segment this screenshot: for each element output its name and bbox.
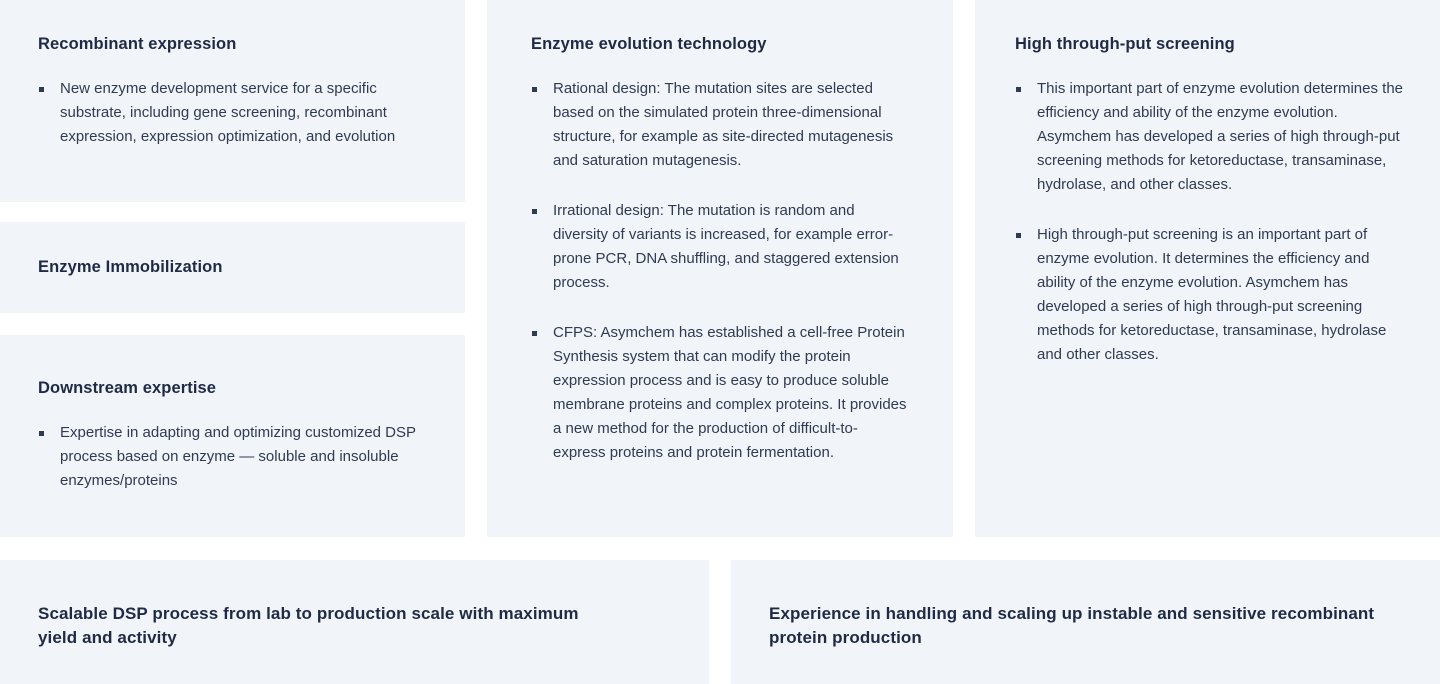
- list-item: CFPS: Asymchem has established a cell-fr…: [531, 321, 909, 465]
- card-title: Enzyme Immobilization: [38, 257, 223, 278]
- square-bullet-icon: [1016, 87, 1021, 92]
- square-bullet-icon: [532, 87, 537, 92]
- square-bullet-icon: [39, 87, 44, 92]
- bullet-list: New enzyme development service for a spe…: [38, 77, 425, 149]
- card-content: High through-put screening This importan…: [975, 0, 1440, 367]
- card-enzyme-immobilization: Enzyme Immobilization: [0, 222, 465, 313]
- banner-title: Scalable DSP process from lab to product…: [38, 602, 589, 650]
- banner-title: Experience in handling and scaling up in…: [769, 602, 1380, 650]
- list-item: This important part of enzyme evolution …: [1015, 77, 1406, 197]
- square-bullet-icon: [1016, 233, 1021, 238]
- square-bullet-icon: [39, 431, 44, 436]
- list-item-text: This important part of enzyme evolution …: [1037, 80, 1403, 193]
- card-recombinant-expression: Recombinant expression New enzyme develo…: [0, 0, 465, 202]
- list-item: High through-put screening is an importa…: [1015, 223, 1406, 367]
- list-item: New enzyme development service for a spe…: [38, 77, 425, 149]
- enzyme-capabilities-board: Recombinant expression New enzyme develo…: [0, 0, 1440, 684]
- card-title: High through-put screening: [1015, 34, 1406, 55]
- banner-content: Scalable DSP process from lab to product…: [0, 560, 709, 650]
- list-item-text: CFPS: Asymchem has established a cell-fr…: [553, 324, 907, 461]
- bullet-list: Expertise in adapting and optimizing cus…: [38, 421, 425, 493]
- list-item-text: Expertise in adapting and optimizing cus…: [60, 424, 416, 489]
- list-item-text: New enzyme development service for a spe…: [60, 80, 395, 145]
- banner-content: Experience in handling and scaling up in…: [731, 560, 1440, 650]
- list-item: Rational design: The mutation sites are …: [531, 77, 909, 173]
- card-content: Enzyme evolution technology Rational des…: [487, 0, 953, 465]
- card-title: Enzyme evolution technology: [531, 34, 909, 55]
- list-item: Irrational design: The mutation is rando…: [531, 199, 909, 295]
- banner-scalable-dsp-process: Scalable DSP process from lab to product…: [0, 560, 709, 684]
- banner-instable-protein-production: Experience in handling and scaling up in…: [731, 560, 1440, 684]
- card-enzyme-evolution-technology: Enzyme evolution technology Rational des…: [487, 0, 953, 537]
- card-content: Recombinant expression New enzyme develo…: [0, 0, 465, 149]
- square-bullet-icon: [532, 209, 537, 214]
- card-content: Enzyme Immobilization: [0, 222, 465, 313]
- square-bullet-icon: [532, 331, 537, 336]
- card-content: Downstream expertise Expertise in adapti…: [0, 335, 465, 493]
- list-item-text: Rational design: The mutation sites are …: [553, 80, 893, 169]
- list-item: Expertise in adapting and optimizing cus…: [38, 421, 425, 493]
- card-title: Downstream expertise: [38, 378, 425, 399]
- card-downstream-expertise: Downstream expertise Expertise in adapti…: [0, 335, 465, 537]
- list-item-text: Irrational design: The mutation is rando…: [553, 202, 899, 291]
- card-title: Recombinant expression: [38, 34, 425, 55]
- list-item-text: High through-put screening is an importa…: [1037, 226, 1386, 363]
- bullet-list: This important part of enzyme evolution …: [1015, 77, 1406, 367]
- bullet-list: Rational design: The mutation sites are …: [531, 77, 909, 465]
- card-high-through-put-screening: High through-put screening This importan…: [975, 0, 1440, 537]
